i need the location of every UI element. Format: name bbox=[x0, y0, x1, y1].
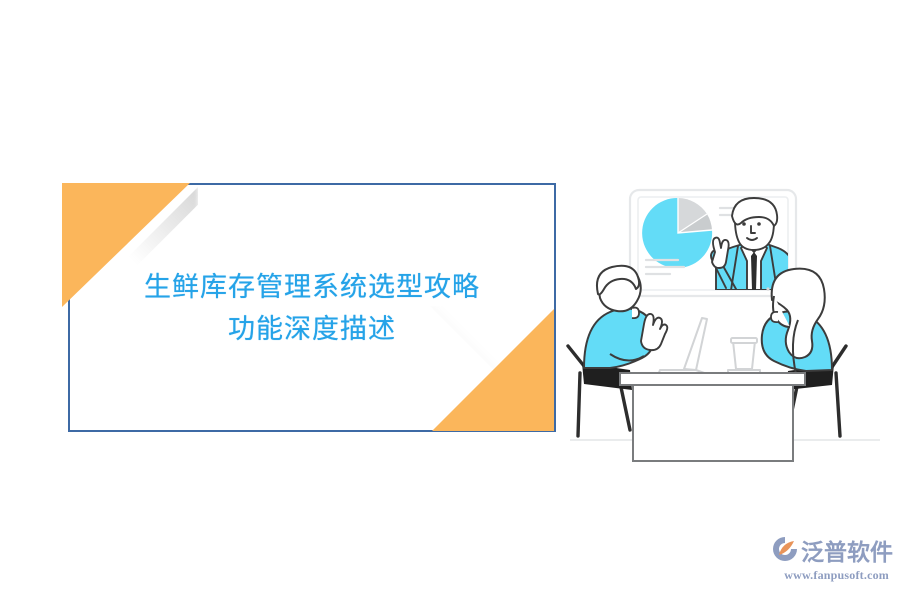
slide-canvas: 生鲜库存管理系统选型攻略 功能深度描述 bbox=[0, 0, 900, 600]
title-line-secondary: 功能深度描述 bbox=[228, 308, 396, 350]
title-line-primary: 生鲜库存管理系统选型攻略 bbox=[144, 266, 480, 308]
fanpu-leaf-logo-icon bbox=[772, 536, 798, 567]
title-card: 生鲜库存管理系统选型攻略 功能深度描述 bbox=[68, 183, 556, 432]
fanpusoft-watermark: 泛普软件 www.fanpusoft.com bbox=[772, 536, 890, 584]
meeting-table bbox=[620, 373, 805, 461]
screen-pie-chart bbox=[642, 198, 712, 268]
person-left-hand bbox=[641, 314, 667, 350]
video-conference-illustration bbox=[560, 168, 890, 478]
logo-url: www.fanpusoft.com bbox=[772, 568, 890, 582]
person-right bbox=[762, 269, 832, 374]
monitor-screen bbox=[630, 190, 796, 296]
logo-company-name: 泛普软件 bbox=[801, 539, 893, 565]
paper-cup bbox=[728, 338, 760, 374]
logo-row: 泛普软件 bbox=[772, 536, 890, 567]
title-text-block: 生鲜库存管理系统选型攻略 功能深度描述 bbox=[70, 185, 554, 430]
